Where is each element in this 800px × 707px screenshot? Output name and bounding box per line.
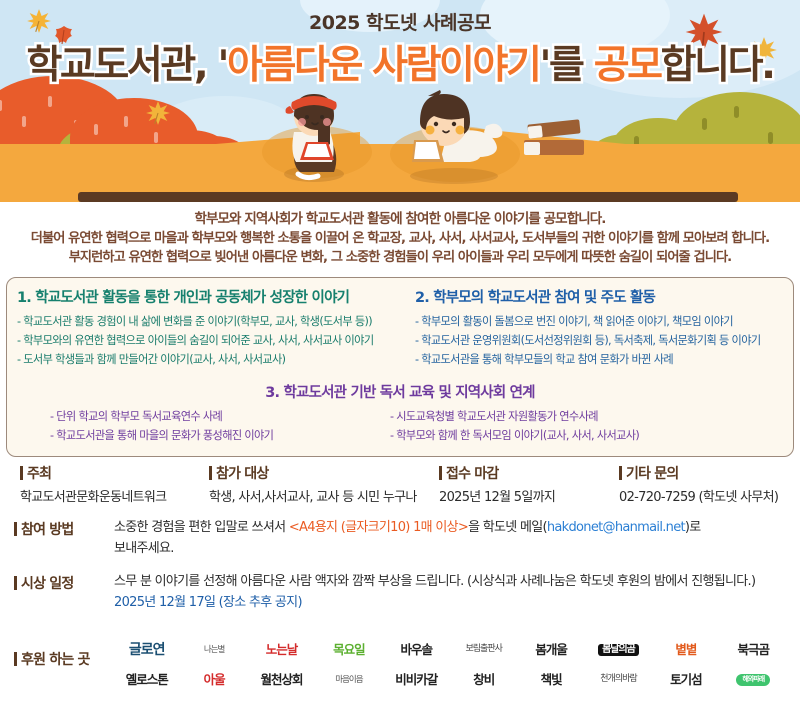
sponsor-logo: 나는별: [204, 646, 224, 655]
category-section-1: 1. 학교도서관 활동을 통한 개인과 공동체가 성장한 이야기 - 학교도서관…: [17, 286, 397, 369]
maple-leaf-icon: [145, 100, 171, 126]
info-contact-label: 기타 문의: [619, 463, 786, 483]
category-3-item: - 단위 학교의 학부모 독서교육연수 사례: [50, 407, 390, 426]
category-2-item: - 학부모의 활동이 돌봄으로 번진 이야기, 책 읽어준 이야기, 책모임 이…: [415, 312, 783, 331]
info-target-value: 학생, 사서,사서교사, 교사 등 시민 누구나: [209, 486, 427, 505]
info-host-label: 주최: [20, 463, 199, 483]
sponsor-logo: 옐로스톤: [126, 673, 168, 686]
sponsor-logo-grid: 글로연 나는별 노는날 목요일 바우솔 보림출판사 봄개울 봄날의곰 볕볕 북극…: [114, 635, 786, 695]
howto-text-b: 을 학도넷 메일(: [468, 520, 547, 535]
info-contact-value: 02-720-7259 (학도넷 사무처): [619, 486, 786, 505]
howto-text-c: )로: [685, 520, 701, 535]
info-howto-label: 참여 방법: [14, 517, 114, 539]
info-deadline-label: 접수 마감: [439, 463, 609, 483]
category-3-item: - 시도교육청별 학교도서관 자원활동가 연수사례: [390, 407, 750, 426]
sponsors-label-text: 후원 하는 곳: [21, 649, 90, 669]
title-segment-5: 합니다.: [661, 43, 774, 88]
category-1-item: - 도서부 학생들과 함께 만들어간 이야기(교사, 사서, 사서교사): [17, 350, 397, 369]
info-award: 시상 일정 스무 분 이야기를 선정해 아름다운 사람 액자와 깜짝 부상을 드…: [14, 571, 786, 613]
hero-eyebrow: 2025 학도넷 사례공모: [0, 8, 800, 35]
title-segment-4: 공모: [594, 43, 661, 88]
label-bar-icon: [20, 466, 23, 480]
info-howto-label-text: 참여 방법: [21, 519, 73, 539]
category-3-title: 3. 학교도서관 기반 독서 교육 및 지역사회 연계: [17, 381, 783, 402]
title-segment-1: 학교도서관, ': [26, 43, 227, 88]
sponsor-logo: 비비카갈: [395, 673, 437, 686]
kid-reading-left-illustration: [276, 86, 354, 182]
category-2-item: - 학교도서관 운영위원회(도서선정위원회 등), 독서축제, 독서문화기획 등…: [415, 331, 783, 350]
howto-email-link[interactable]: hakdonet@hanmail.net: [547, 520, 685, 535]
category-3-item: - 학교도서관을 통해 마을의 문화가 풍성해진 이야기: [50, 426, 390, 445]
poster-root: 2025 학도넷 사례공모 학교도서관, '아름다운 사람이야기'를 공모합니다…: [0, 0, 800, 707]
sponsor-logo: 바우솔: [401, 643, 433, 656]
label-bar-icon: [619, 466, 622, 480]
sponsor-logo: 노는날: [266, 643, 298, 656]
label-bar-icon: [14, 522, 17, 536]
sponsor-logo: 봄개울: [535, 643, 567, 656]
sponsor-logo: 천개의바람: [600, 675, 636, 684]
ground-edge: [78, 192, 738, 202]
category-1-item: - 학부모와의 유연한 협력으로 아이들의 숨길이 되어준 교사, 사서, 사서…: [17, 331, 397, 350]
award-line-2: 2025년 12월 17일 (장소 추후 공지): [114, 592, 755, 613]
title-segment-2: 아름다운 사람이야기: [227, 43, 540, 88]
howto-line-2: 보내주세요.: [114, 538, 701, 559]
info-howto: 참여 방법 소중한 경험을 편한 입말로 쓰셔서 <A4용지 (글자크기10) …: [14, 517, 786, 559]
info-host: 주최 학교도서관문화운동네트워크: [14, 463, 199, 505]
info-award-label: 시상 일정: [14, 571, 114, 593]
info-contact: 기타 문의 02-720-7259 (학도넷 사무처): [609, 463, 786, 505]
label-bar-icon: [14, 652, 17, 666]
sponsor-logo: 봄날의곰: [598, 644, 639, 657]
sponsor-logo: 글로연: [129, 643, 165, 658]
description-block: 학부모와 지역사회가 학교도서관 활동에 참여한 아름다운 이야기를 공모합니다…: [0, 202, 800, 273]
sponsors-block: 후원 하는 곳 글로연 나는별 노는날 목요일 바우솔 보림출판사 봄개울 봄날…: [0, 625, 800, 701]
category-3-item: - 학부모와 함께 한 독서모임 이야기(교사, 사서, 사서교사): [390, 426, 750, 445]
info-howto-body: 소중한 경험을 편한 입말로 쓰셔서 <A4용지 (글자크기10) 1매 이상>…: [114, 517, 701, 559]
info-target-label: 참가 대상: [209, 463, 427, 483]
page-title: 학교도서관, '아름다운 사람이야기'를 공모합니다.: [0, 34, 800, 90]
label-bar-icon: [14, 576, 17, 590]
sponsor-logo: 책빛: [541, 673, 562, 686]
kid-reading-right-illustration: [398, 88, 510, 184]
sponsors-label: 후원 하는 곳: [14, 649, 114, 669]
info-award-body: 스무 분 이야기를 선정해 아름다운 사람 액자와 깜짝 부상을 드립니다. (…: [114, 571, 755, 613]
howto-text-a: 소중한 경험을 편한 입말로 쓰셔서: [114, 520, 289, 535]
sponsor-logo: 해와파래: [736, 674, 770, 685]
info-award-label-text: 시상 일정: [21, 573, 73, 593]
info-contact-label-text: 기타 문의: [626, 463, 678, 483]
sponsor-logo: 볕볕: [675, 643, 696, 656]
illustration-scene: [0, 84, 800, 202]
book-stack-illustration: [520, 116, 592, 164]
info-deadline: 접수 마감 2025년 12월 5일까지: [427, 463, 609, 505]
category-1-item: - 학교도서관 활동 경험이 내 삶에 변화를 준 이야기(학부모, 교사, 학…: [17, 312, 397, 331]
sponsor-logo: 마음이음: [335, 676, 362, 685]
category-2-title: 2. 학부모의 학교도서관 참여 및 주도 활동: [415, 286, 783, 307]
description-line-3: 부지런하고 유연한 협력으로 빚어낸 아름다운 변화, 그 소중한 경험들이 우…: [10, 248, 790, 267]
info-target: 참가 대상 학생, 사서,사서교사, 교사 등 시민 누구나: [199, 463, 427, 505]
sponsor-logo: 월천상회: [260, 673, 302, 686]
info-target-label-text: 참가 대상: [216, 463, 268, 483]
howto-highlight: <A4용지 (글자크기10) 1매 이상>: [289, 520, 468, 535]
category-box: 1. 학교도서관 활동을 통한 개인과 공동체가 성장한 이야기 - 학교도서관…: [6, 277, 794, 457]
category-section-2: 2. 학부모의 학교도서관 참여 및 주도 활동 - 학부모의 활동이 돌봄으로…: [403, 286, 783, 369]
sponsor-logo: 아울: [204, 673, 225, 686]
sponsor-logo: 창비: [473, 673, 494, 686]
sponsor-logo: 보림출판사: [465, 645, 501, 654]
info-deadline-label-text: 접수 마감: [446, 463, 498, 483]
sponsor-logo: 목요일: [333, 643, 365, 656]
sponsor-logo: 토기섬: [670, 673, 702, 686]
description-line-1: 학부모와 지역사회가 학교도서관 활동에 참여한 아름다운 이야기를 공모합니다…: [10, 210, 790, 229]
info-host-value: 학교도서관문화운동네트워크: [20, 486, 199, 505]
description-line-2: 더불어 유연한 협력으로 마을과 학부모와 행복한 소통을 이끌어 온 학교장,…: [10, 229, 790, 248]
category-section-3: 3. 학교도서관 기반 독서 교육 및 지역사회 연계 - 단위 학교의 학부모…: [17, 381, 783, 445]
category-2-item: - 학교도서관을 통해 학부모들의 학교 참여 문화가 바뀐 사례: [415, 350, 783, 369]
info-host-label-text: 주최: [27, 463, 51, 483]
hero-banner: 2025 학도넷 사례공모 학교도서관, '아름다운 사람이야기'를 공모합니다…: [0, 0, 800, 202]
info-deadline-value: 2025년 12월 5일까지: [439, 486, 609, 505]
award-line-1: 스무 분 이야기를 선정해 아름다운 사람 액자와 깜짝 부상을 드립니다. (…: [114, 571, 755, 592]
title-segment-3: '를: [540, 43, 594, 88]
info-block: 주최 학교도서관문화운동네트워크 참가 대상 학생, 사서,사서교사, 교사 등…: [0, 457, 800, 615]
label-bar-icon: [209, 466, 212, 480]
label-bar-icon: [439, 466, 442, 480]
category-1-title: 1. 학교도서관 활동을 통한 개인과 공동체가 성장한 이야기: [17, 286, 397, 307]
sponsor-logo: 북극곰: [738, 643, 770, 656]
sponsors-label-wrap: 후원 하는 곳: [14, 635, 114, 669]
